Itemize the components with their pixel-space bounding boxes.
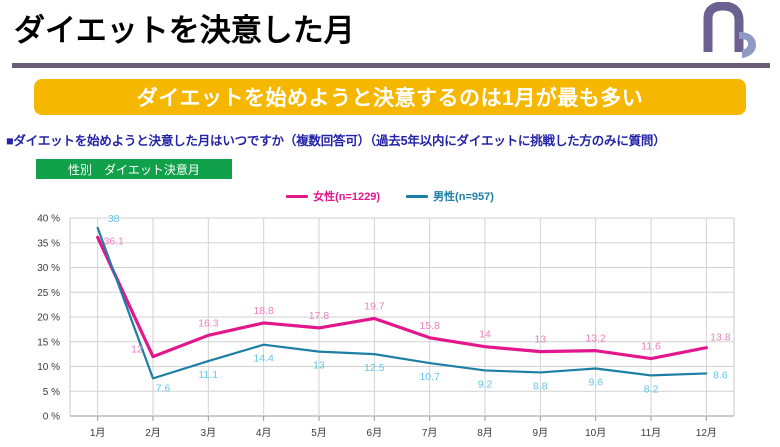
data-label-female: 16.3 [198,317,219,329]
x-axis-tick-label: 8月 [477,427,493,439]
y-axis-tick-label: 5 % [43,387,60,398]
data-label-female: 12 [131,344,143,356]
data-label-male: 12.5 [364,362,385,374]
y-axis-tick-label: 20 % [37,313,60,324]
data-label-female: 13.2 [585,333,606,345]
data-label-female: 11.6 [641,341,661,353]
x-axis-tick-label: 1月 [90,427,106,439]
data-label-male: 8.6 [713,369,728,381]
y-axis-tick-label: 10 % [37,362,60,373]
series-line-male [98,228,707,378]
page-header: ダイエットを決意した月 [0,0,780,68]
x-axis-tick-label: 6月 [367,427,383,439]
data-label-female: 18.8 [253,305,274,317]
y-axis-tick-label: 30 % [37,263,60,274]
headline-banner-text: ダイエットを始めようと決意するのは1月が最も多い [137,82,643,112]
x-axis-tick-label: 5月 [311,427,327,439]
series-line-female [98,237,707,358]
legend-label-male: 男性(n=957) [433,188,494,204]
x-axis-tick-label: 11月 [641,427,661,439]
data-label-male: 13 [313,360,325,372]
data-label-male: 7.6 [156,382,171,394]
data-label-female: 36.1 [103,235,124,247]
data-label-male: 10.7 [419,371,440,383]
data-label-male: 8.2 [644,383,659,395]
y-axis-tick-label: 0 % [43,412,60,423]
data-label-male: 38 [108,213,120,225]
y-axis-tick-label: 25 % [37,288,60,299]
data-label-female: 17.8 [309,310,330,322]
data-label-male: 8.8 [533,380,548,392]
data-label-female: 13 [534,334,546,346]
data-label-male: 11.1 [198,369,218,381]
data-label-female: 19.7 [364,300,385,312]
page-title: ダイエットを決意した月 [14,5,355,50]
section-tag: 性別 ダイエット決意月 [36,159,232,179]
y-axis-tick-label: 35 % [37,238,60,249]
title-divider [12,63,770,68]
x-axis-tick-label: 9月 [533,427,549,439]
x-axis-tick-label: 12月 [696,427,717,439]
data-label-female: 13.8 [710,332,731,344]
x-axis-tick-label: 2月 [145,427,161,439]
x-axis-tick-label: 7月 [422,427,438,439]
legend-label-female: 女性(n=1229) [313,188,380,204]
data-label-female: 15.8 [419,320,440,332]
headline-banner: ダイエットを始めようと決意するのは1月が最も多い [34,79,746,115]
line-chart: 0 %5 %10 %15 %20 %25 %30 %35 %40 %1月2月3月… [0,204,780,447]
chart-canvas: 0 %5 %10 %15 %20 %25 %30 %35 %40 %1月2月3月… [0,204,780,447]
x-axis-tick-label: 10月 [585,427,606,439]
survey-question: ■ダイエットを始めようと決意した月はいつですか（複数回答可）（過去5年以内にダイ… [6,130,666,149]
legend-swatch-male [406,195,428,198]
y-axis-tick-label: 15 % [37,337,60,348]
x-axis-tick-label: 4月 [256,427,272,439]
legend-item-female: 女性(n=1229) [286,188,380,204]
section-tag-label: 性別 ダイエット決意月 [68,161,200,178]
y-axis-tick-label: 40 % [37,214,60,225]
data-label-male: 14.4 [253,353,274,365]
n-comma-logo-icon [700,2,762,60]
data-label-female: 14 [479,329,491,341]
question-text: ダイエットを始めようと決意した月はいつですか（複数回答可）（過去5年以内にダイエ… [13,134,665,148]
legend-item-male: 男性(n=957) [406,188,494,204]
legend-swatch-female [286,195,308,198]
chart-legend: 女性(n=1229) 男性(n=957) [0,188,780,204]
x-axis-tick-label: 3月 [201,427,217,439]
data-label-male: 9.6 [588,376,603,388]
data-label-male: 9.2 [478,378,493,390]
